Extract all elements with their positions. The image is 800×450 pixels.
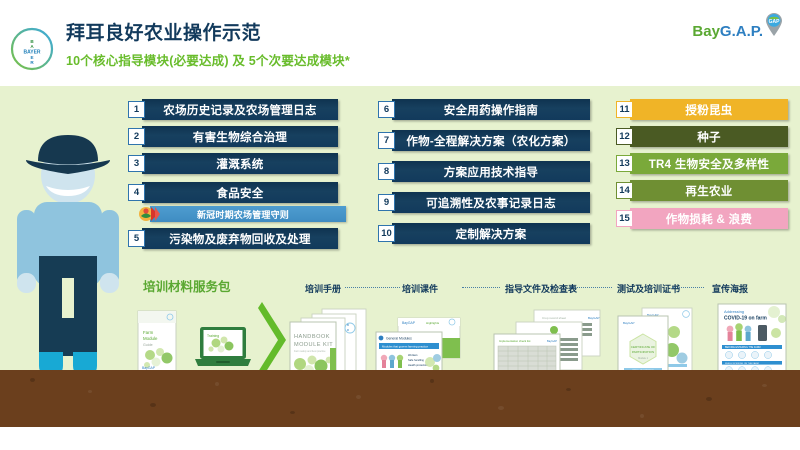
slide-root: B A BAYER E R 拜耳良好农业操作示范 10个核心指导模块(必要达成)… <box>0 0 800 450</box>
svg-text:Safe handling: Safe handling <box>408 358 424 362</box>
page-title: 拜耳良好农业操作示范 <box>66 22 350 46</box>
certificates-illustration: BayGAP BayGAP CERTIFICATE OF PARTICIPATI… <box>616 306 704 380</box>
module-row[interactable]: 8 方案应用技术指导 <box>378 161 590 182</box>
module-number: 9 <box>378 194 395 211</box>
module-bar[interactable]: 可追溯性及农事记录日志 <box>392 192 590 213</box>
page-subtitle: 10个核心指导模块(必要达成) 及 5个次要达成模块* <box>66 50 350 69</box>
module-row[interactable]: 10 定制解决方案 <box>378 223 590 244</box>
module-number: 15 <box>616 210 633 227</box>
module-number: 13 <box>616 155 633 172</box>
module-bar[interactable]: 食品安全 <box>142 182 338 203</box>
module-bar[interactable]: 种子 <box>630 126 788 147</box>
module-row[interactable]: 14 再生农业 <box>616 180 788 201</box>
module-label: 授粉昆虫 <box>679 102 738 118</box>
material-label-handbook: 培训手册 <box>305 282 341 295</box>
module-label: 再生农业 <box>679 183 738 199</box>
module-label: 安全用药操作指南 <box>438 102 544 118</box>
module-number: 6 <box>378 101 395 118</box>
module-label: 污染物及废弃物回收及处理 <box>163 231 317 247</box>
svg-text:BayGAP: BayGAP <box>547 339 557 343</box>
module-row[interactable]: 11 授粉昆虫 <box>616 99 788 120</box>
covid-banner-label: 新冠时期农场管理守则 <box>150 208 346 221</box>
module-number: 8 <box>378 163 395 180</box>
svg-text:Crop record sheet: Crop record sheet <box>542 316 566 320</box>
handbook-title-line2: MODULE KIT <box>294 342 333 348</box>
module-row[interactable]: 12 种子 <box>616 126 788 147</box>
svg-text:CERTIFICATE OF: CERTIFICATE OF <box>631 345 656 349</box>
module-label: 有害生物综合治理 <box>187 129 293 145</box>
laptop-illustration: Training <box>194 325 252 373</box>
module-bar[interactable]: 安全用药操作指南 <box>392 99 590 120</box>
connector-dots <box>345 287 400 288</box>
module-row[interactable]: 5 污染物及废弃物回收及处理 <box>128 228 338 249</box>
title-block: 拜耳良好农业操作示范 10个核心指导模块(必要达成) 及 5个次要达成模块* <box>66 22 350 69</box>
poster-heading-line2: COVID-19 on farm <box>724 316 767 322</box>
module-row[interactable]: 7 作物-全程解决方案（农化方案） <box>378 130 590 151</box>
farmer-illustration <box>12 128 130 378</box>
svg-text:Highlights: Highlights <box>426 321 440 325</box>
module-bar[interactable]: 作物损耗 & 浪费 <box>630 208 788 229</box>
module-number: 5 <box>128 230 145 247</box>
materials-section-title: 培训材料服务包 <box>143 276 231 295</box>
svg-text:BEFORE ENTERING THE FARM: BEFORE ENTERING THE FARM <box>725 346 761 349</box>
svg-text:Module 1: Module 1 <box>638 357 649 360</box>
module-label: 灌溉系统 <box>210 156 269 172</box>
svg-text:BayGAP: BayGAP <box>588 316 600 320</box>
svg-text:B: B <box>347 323 349 327</box>
header: B A BAYER E R 拜耳良好农业操作示范 10个核心指导模块(必要达成)… <box>0 0 800 86</box>
module-row[interactable]: 2 有害生物综合治理 <box>128 126 338 147</box>
module-bar[interactable]: 方案应用技术指导 <box>392 161 590 182</box>
module-label: 种子 <box>691 129 727 145</box>
module-number: 7 <box>378 132 395 149</box>
covid-sub-banner[interactable]: 新冠时期农场管理守则 <box>150 206 346 222</box>
module-bar[interactable]: 污染物及废弃物回收及处理 <box>142 228 338 249</box>
svg-text:Implementation check list: Implementation check list <box>499 339 531 343</box>
module-label: 作物-全程解决方案（农化方案） <box>400 133 581 149</box>
module-number: 10 <box>378 225 395 242</box>
module-bar[interactable]: 有害生物综合治理 <box>142 126 338 147</box>
svg-text:General Modules: General Modules <box>386 337 412 341</box>
module-bar[interactable]: 再生农业 <box>630 180 788 201</box>
handbook-title-line1: HANDBOOK <box>294 334 330 340</box>
module-number: 2 <box>128 128 145 145</box>
module-number: 12 <box>616 128 633 145</box>
baygap-gap-text: G.A.P. <box>720 23 763 40</box>
svg-text:Guide: Guide <box>143 343 153 347</box>
svg-text:BayGAP: BayGAP <box>402 321 416 325</box>
bayer-cross-logo: B A BAYER E R <box>10 27 54 71</box>
svg-text:BayGAP: BayGAP <box>623 321 635 325</box>
svg-text:Training: Training <box>207 334 219 338</box>
svg-text:Workers: Workers <box>408 353 418 357</box>
svg-text:Farm: Farm <box>143 330 154 335</box>
material-label-poster: 宣传海报 <box>712 282 748 295</box>
module-row[interactable]: 4 食品安全 <box>128 182 338 203</box>
module-row[interactable]: 15 作物损耗 & 浪费 <box>616 208 788 229</box>
svg-text:Modules that govern farming pr: Modules that govern farming practice <box>382 344 428 348</box>
module-label: 定制解决方案 <box>450 226 533 242</box>
baygap-bay-text: Bay <box>692 23 720 40</box>
module-row[interactable]: 13 TR4 生物安全及多样性 <box>616 153 788 174</box>
soil-band <box>0 370 800 427</box>
module-bar[interactable]: 灌溉系统 <box>142 153 338 174</box>
material-label-certificate: 测试及培训证书 <box>617 282 680 295</box>
svg-text:Module: Module <box>143 336 158 341</box>
module-number: 1 <box>128 101 145 118</box>
module-bar[interactable]: 授粉昆虫 <box>630 99 788 120</box>
svg-text:Health protection: Health protection <box>408 363 428 367</box>
module-label: 食品安全 <box>210 185 269 201</box>
material-label-checklist: 指导文件及检查表 <box>505 282 577 295</box>
svg-text:WHILE WORKING ON THE FARM: WHILE WORKING ON THE FARM <box>725 362 759 365</box>
module-bar[interactable]: TR4 生物安全及多样性 <box>630 153 788 174</box>
svg-text:GAP: GAP <box>769 19 781 25</box>
module-number: 4 <box>128 184 145 201</box>
footer-band <box>0 427 800 450</box>
module-row[interactable]: 1 农场历史记录及农场管理日志 <box>128 99 338 120</box>
material-label-courseware: 培训课件 <box>402 282 438 295</box>
module-row[interactable]: 6 安全用药操作指南 <box>378 99 590 120</box>
module-label: TR4 生物安全及多样性 <box>643 156 776 172</box>
module-row[interactable]: 9 可追溯性及农事记录日志 <box>378 192 590 213</box>
location-pin-icon: GAP <box>764 12 784 38</box>
svg-text:Farm safety and best practice: Farm safety and best practice <box>294 350 326 353</box>
module-bar[interactable]: 定制解决方案 <box>392 223 590 244</box>
poster-heading-line1: Addressing <box>724 309 744 314</box>
module-label: 作物损耗 & 浪费 <box>660 211 758 227</box>
module-bar[interactable]: 作物-全程解决方案（农化方案） <box>392 130 590 151</box>
module-bar[interactable]: 农场历史记录及农场管理日志 <box>142 99 338 120</box>
module-label: 农场历史记录及农场管理日志 <box>157 102 322 118</box>
module-row[interactable]: 3 灌溉系统 <box>128 153 338 174</box>
module-number: 3 <box>128 155 145 172</box>
baygap-logo: Bay G.A.P. GAP <box>692 10 784 40</box>
connector-dots <box>462 287 500 288</box>
courseware-slides-illustration: BayGAP Highlights General Modules Module… <box>374 316 466 378</box>
svg-text:PARTICIPATION: PARTICIPATION <box>632 350 654 354</box>
covid-farm-icon <box>138 204 160 224</box>
module-number: 14 <box>616 182 633 199</box>
module-label: 方案应用技术指导 <box>438 164 544 180</box>
module-label: 可追溯性及农事记录日志 <box>420 195 562 211</box>
module-number: 11 <box>616 101 633 118</box>
